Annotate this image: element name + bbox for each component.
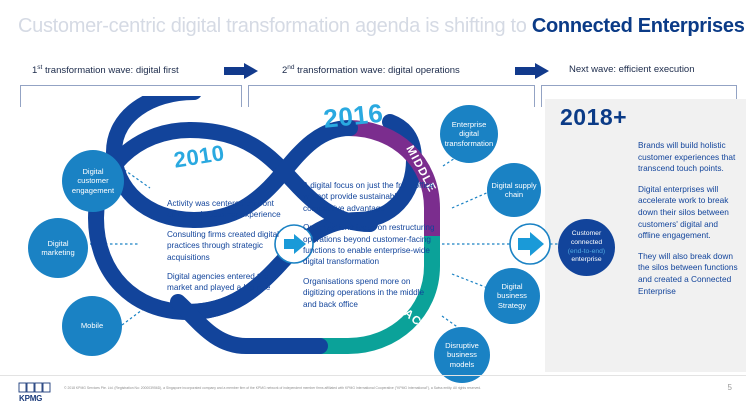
left-bullet-1: Activity was centered on front office an… <box>167 198 287 221</box>
slide-canvas: Customer-centric digital transformation … <box>0 0 746 412</box>
bubble-label: Digital supply chain <box>491 181 537 200</box>
panel-paragraphs: Brands will build holistic customer expe… <box>638 140 738 306</box>
left-bullet-3: Digital agencies entered the market and … <box>167 271 287 294</box>
bubble-digital-supply-chain[interactable]: Digital supply chain <box>487 163 541 217</box>
bubble-label: Mobile <box>81 321 103 330</box>
end-state-arrow-icon <box>510 224 550 264</box>
bubble-label: Digital customer engagement <box>66 167 120 195</box>
wave-3-text: Next wave: efficient execution <box>569 64 695 75</box>
bubble-end-text: Customer connected (end-to-end) enterpri… <box>568 230 605 264</box>
bubble-digital-marketing[interactable]: Digital marketing <box>28 218 88 278</box>
kpmg-logo: KPMG <box>18 382 58 402</box>
wave-arrow-2-icon <box>515 63 549 79</box>
wave-2-sup: nd <box>287 64 294 71</box>
bubble-enterprise-digital-transformation[interactable]: Enterprise digital transformation <box>440 105 498 163</box>
ribbon-left-column: Activity was centered on front office an… <box>167 198 287 302</box>
panel-paragraph-2: Digital enterprises will accelerate work… <box>638 184 738 242</box>
wave-label-2: 2nd transformation wave: digital operati… <box>282 64 460 76</box>
left-bullet-2: Consulting firms created digital practic… <box>167 229 287 263</box>
wave-2-text: transformation wave: digital operations <box>295 65 460 76</box>
right-bullet-1: A digital focus on just the front office… <box>303 180 437 214</box>
footer-copyright: © 2018 KPMG Services Pte. Ltd. (Registra… <box>64 386 704 391</box>
bubble-label: Digital business Strategy <box>488 282 536 310</box>
bubble-label: Digital marketing <box>32 239 84 258</box>
bubble-label: Disruptive business models <box>438 341 486 369</box>
wave-1-text: transformation wave: digital first <box>42 65 178 76</box>
bubble-digital-business-strategy[interactable]: Digital business Strategy <box>484 268 540 324</box>
bubble-customer-connected-enterprise[interactable]: Customer connected (end-to-end) enterpri… <box>558 219 615 276</box>
ribbon-right-column: A digital focus on just the front office… <box>303 180 437 318</box>
end-sub: (end-to-end) <box>568 248 605 257</box>
bubble-mobile[interactable]: Mobile <box>62 296 122 356</box>
ribbon-year-2016: 2016 <box>322 98 385 135</box>
end-line-2: connected <box>571 239 602 246</box>
panel-paragraph-3: They will also break down the silos betw… <box>638 251 738 297</box>
kpmg-wordmark: KPMG <box>19 394 42 402</box>
bubble-digital-customer-engagement[interactable]: Digital customer engagement <box>62 150 124 212</box>
right-bullet-2: Organisations focus on restructuring ope… <box>303 222 437 268</box>
footer-divider <box>0 375 746 376</box>
page-number: 5 <box>728 383 732 392</box>
end-line-3: enterprise <box>571 256 601 263</box>
page-title-bold: Connected Enterprises <box>532 15 745 37</box>
page-title-light: Customer-centric digital transformation … <box>18 15 532 37</box>
wave-label-3: Next wave: efficient execution <box>569 64 695 75</box>
bubble-label: Enterprise digital transformation <box>444 120 494 148</box>
panel-paragraph-1: Brands will build holistic customer expe… <box>638 140 738 175</box>
end-line-1: Customer <box>572 230 601 237</box>
wave-arrow-1-icon <box>224 63 258 79</box>
wave-label-1: 1st transformation wave: digital first <box>32 64 179 76</box>
right-bullet-3: Organisations spend more on digitizing o… <box>303 276 437 310</box>
page-title: Customer-centric digital transformation … <box>18 14 745 38</box>
